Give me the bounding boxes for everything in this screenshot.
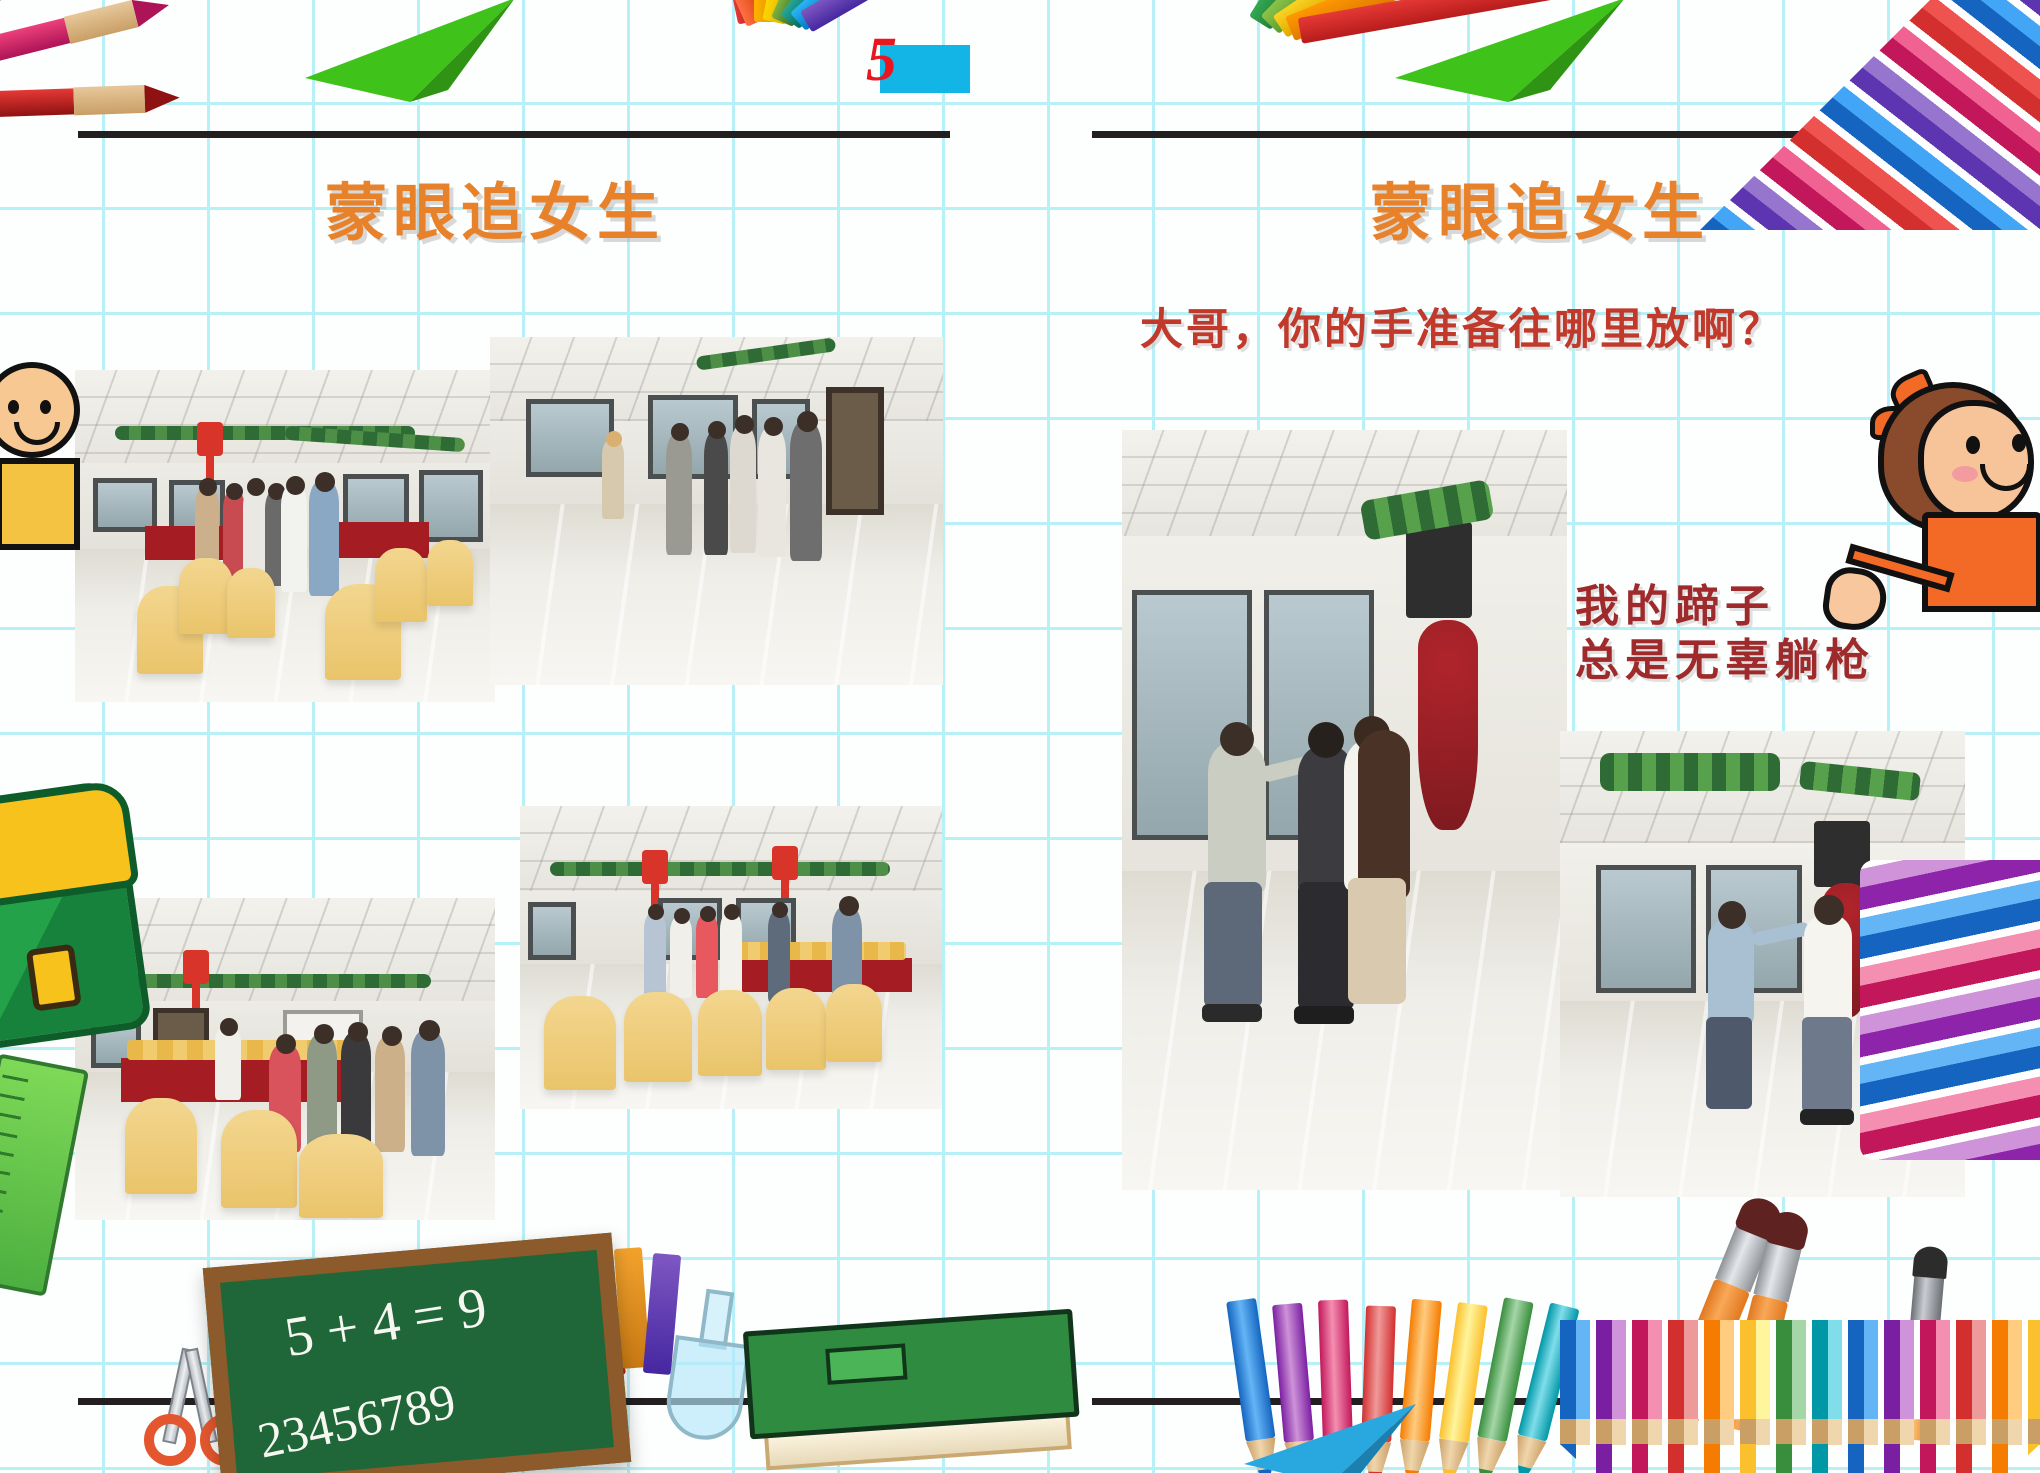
paper-plane-icon-bottom — [1240, 1400, 1420, 1473]
green-book-icon — [743, 1309, 1083, 1473]
pencil-fan-top-right-corner — [1700, 0, 2040, 230]
chalkboard: 5 + 4 = 9 23456789 — [203, 1233, 631, 1473]
photo-yellow-chairs-room — [520, 806, 942, 1109]
cartoon-girl-icon — [1860, 372, 2040, 652]
chalkboard-numbers: 23456789 — [253, 1371, 461, 1469]
colored-pencil-stack-right-edge — [1860, 860, 2040, 1160]
cartoon-baby-icon — [0, 362, 94, 577]
caption-pig-line-2: 总是无辜躺枪 — [1575, 634, 1875, 688]
caption-hand-placement: 大哥，你的手准备往哪里放啊？ — [1140, 295, 1784, 357]
photo-classroom-group-blindfold — [75, 370, 495, 702]
scrapbook-page: 蒙眼追女生 5 蒙眼追女生 大哥，你的手准备往哪里放啊？ 我的蹄子 总是无辜躺枪 — [0, 0, 2040, 1473]
photo-window-trio-tall — [1122, 430, 1567, 1190]
paper-plane-icon-right — [1390, 0, 1630, 112]
paper-plane-icon-left — [300, 0, 520, 110]
chalkboard-equation: 5 + 4 = 9 — [280, 1275, 491, 1370]
photo-hallway-students-line — [490, 337, 943, 685]
pencil-fan-top-center — [600, 0, 1300, 170]
colored-pencil-row-far-right — [1560, 1320, 2040, 1473]
school-backpack-icon — [0, 779, 153, 1051]
